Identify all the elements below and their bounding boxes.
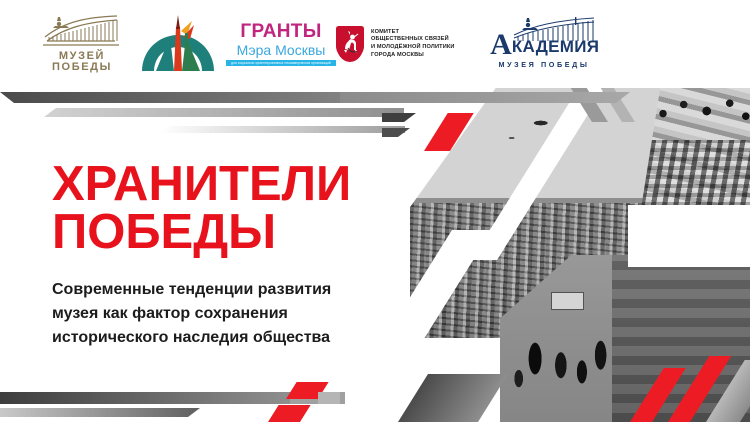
logo-committee-line-2: ОБЩЕСТВЕННЫХ СВЯЗЕЙ (371, 36, 455, 44)
poster-canvas: ГАЗОУБЕЖИЩЕ (0, 0, 750, 422)
bunker-sign-label: ГАЗОУБЕЖИЩЕ (700, 282, 738, 287)
logo-grants-line-1: ГРАНТЫ (240, 22, 321, 42)
moscow-coat-of-arms-icon (336, 26, 364, 62)
title-block: ХРАНИТЕЛИ ПОБЕДЫ Современные тенденции р… (52, 160, 351, 350)
logo-grants-line-3: для социально ориентированных некоммерче… (226, 60, 336, 66)
gray-bar-bottom-3 (318, 392, 340, 404)
logo-museum-text: МУЗЕЙ ПОБЕДЫ (52, 51, 112, 73)
logo-academy-letter: А (490, 31, 512, 59)
logo-museum-line-2: ПОБЕДЫ (52, 62, 112, 73)
logo-academy-museum-of-victory[interactable]: А (484, 19, 604, 69)
gray-bar-upper-2 (340, 92, 630, 103)
victory-museum-colonnade-icon (39, 15, 125, 49)
logo-grants-line-2: Мэра Москвы (237, 42, 326, 58)
title-line-1: ХРАНИТЕЛИ (52, 160, 351, 208)
logo-academy-main: А (490, 19, 598, 59)
logo-moscow-mayor-grants[interactable]: ГРАНТЫ Мэра Москвы для социально ориенти… (226, 22, 336, 66)
page-subtitle: Современные тенденции развития музея как… (52, 278, 351, 350)
logo-committee-line-4: ГОРОДА МОСКВЫ (371, 52, 455, 60)
subtitle-line-2: музея как фактор сохранения (52, 302, 351, 326)
page-title: ХРАНИТЕЛИ ПОБЕДЫ (52, 160, 351, 256)
sponsor-logo-strip: МУЗЕЙ ПОБЕДЫ (0, 0, 750, 88)
logo-academy-word: КАДЕМИЯ (512, 38, 599, 57)
subtitle-line-3: исторического наследия общества (52, 326, 351, 350)
horizontal-separator-right (628, 205, 750, 267)
gray-bar-bottom-2 (0, 408, 200, 417)
bunker-sign: ГАЗОУБЕЖИЩЕ (689, 277, 750, 292)
logo-moscow-committee[interactable]: КОМИТЕТ ОБЩЕСТВЕННЫХ СВЯЗЕЙ И МОЛОДЁЖНОЙ… (336, 26, 484, 62)
wall-plaque-icon (551, 292, 584, 310)
logo-spires-emblem[interactable] (130, 13, 226, 75)
dome-and-spires-emblem-icon (140, 13, 216, 75)
logo-committee-line-3: И МОЛОДЁЖНОЙ ПОЛИТИКИ (371, 44, 455, 52)
title-line-2: ПОБЕДЫ (52, 208, 351, 256)
logo-academy-subtitle: МУЗЕЯ ПОБЕДЫ (499, 60, 590, 69)
gray-bar-upper-3 (44, 108, 404, 117)
academy-colonnade-icon: КАДЕМИЯ (512, 19, 598, 59)
gray-bar-upper-4 (160, 126, 405, 133)
logo-committee-text: КОМИТЕТ ОБЩЕСТВЕННЫХ СВЯЗЕЙ И МОЛОДЁЖНОЙ… (371, 29, 455, 59)
logo-museum-of-victory[interactable]: МУЗЕЙ ПОБЕДЫ (34, 15, 130, 73)
subtitle-line-1: Современные тенденции развития (52, 278, 351, 302)
